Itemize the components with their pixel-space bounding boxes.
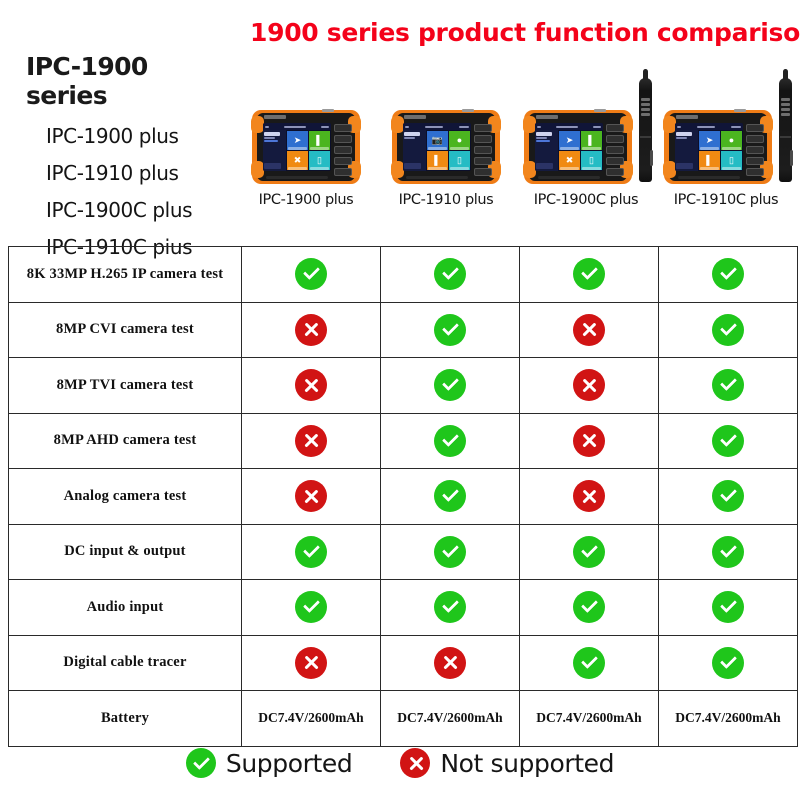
- device-brand-mark: [536, 115, 558, 119]
- product-image-strip: ➤ ▌ ✖ ▯ IPC-1900 plus: [236, 58, 796, 208]
- screen-statusbar: [403, 123, 471, 130]
- feature-value-cell: [381, 302, 520, 358]
- pen-band: [640, 136, 651, 138]
- table-body: 8K 33MP H.265 IP camera test8MP CVI came…: [9, 247, 798, 747]
- pen-tip: [783, 69, 788, 80]
- legend-label: Not supported: [440, 749, 614, 778]
- cross-circle-icon: [400, 748, 430, 778]
- feature-value-cell: [381, 413, 520, 469]
- tester-device-icon: ➤ ▌ ✖ ▯: [252, 110, 360, 184]
- product-label: IPC-1900 plus: [259, 192, 354, 208]
- legend-item-not-supported: Not supported: [400, 748, 614, 778]
- tile-ip-camera-test-icon: ➤: [287, 131, 308, 150]
- feature-value-cell: [242, 413, 381, 469]
- check-circle-icon: [434, 369, 466, 401]
- battery-spec-text: DC7.4V/2600mAh: [258, 710, 363, 725]
- table-row: Analog camera test: [9, 469, 798, 525]
- check-circle-icon: [186, 748, 216, 778]
- feature-value-cell: [242, 247, 381, 303]
- tester-device-icon: ➤ ● ▌ ▯: [664, 110, 772, 184]
- check-circle-icon: [573, 536, 605, 568]
- screen-statusbar: [675, 123, 743, 130]
- cross-circle-icon: [573, 425, 605, 457]
- legend: Supported Not supported: [0, 748, 800, 778]
- feature-value-cell: [659, 302, 798, 358]
- battery-spec-text: DC7.4V/2600mAh: [536, 710, 641, 725]
- pen-band: [780, 136, 791, 138]
- device-bottom-bar: [538, 176, 600, 179]
- feature-label-cell: Battery: [9, 691, 242, 747]
- device-brand-mark: [676, 115, 698, 119]
- device-illustration-wrap: ➤ ● ▌ ▯: [656, 76, 796, 186]
- feature-value-cell: [520, 524, 659, 580]
- screen-side-panel: [535, 130, 558, 171]
- pen-tip: [643, 69, 648, 80]
- feature-label-cell: DC input & output: [9, 524, 242, 580]
- feature-value-cell: [520, 302, 659, 358]
- screen-statusbar: [535, 123, 603, 130]
- device-side-buttons: [334, 124, 352, 176]
- screen-app-tiles: ➤ ▌ ✖ ▯: [558, 130, 603, 171]
- feature-value-cell: [520, 247, 659, 303]
- screen-statusbar: [263, 123, 331, 130]
- feature-value-cell: [659, 247, 798, 303]
- device-top-port: [322, 109, 334, 112]
- cable-tracer-pen-icon: [779, 78, 792, 182]
- screen-side-panel: [263, 130, 286, 171]
- feature-label-cell: 8K 33MP H.265 IP camera test: [9, 247, 242, 303]
- cross-circle-icon: [434, 647, 466, 679]
- screen-body: 📷 ● ▌ ▯: [403, 130, 471, 171]
- cross-circle-icon: [295, 425, 327, 457]
- check-circle-icon: [434, 425, 466, 457]
- table-row: 8K 33MP H.265 IP camera test: [9, 247, 798, 303]
- device-brand-mark: [264, 115, 286, 119]
- legend-item-supported: Supported: [186, 748, 352, 778]
- feature-value-cell: [520, 635, 659, 691]
- device-top-port: [462, 109, 474, 112]
- product-label: IPC-1910C plus: [674, 192, 778, 208]
- device-bottom-bar: [266, 176, 328, 179]
- screen-app-tiles: 📷 ● ▌ ▯: [426, 130, 471, 171]
- feature-value-cell: [659, 413, 798, 469]
- feature-label-cell: 8MP AHD camera test: [9, 413, 242, 469]
- feature-value-cell: [381, 247, 520, 303]
- check-circle-icon: [434, 314, 466, 346]
- device-top-port: [734, 109, 746, 112]
- check-circle-icon: [712, 536, 744, 568]
- tile-document-icon: ▯: [721, 151, 742, 170]
- check-circle-icon: [295, 536, 327, 568]
- legend-label: Supported: [226, 749, 352, 778]
- tile-document-icon: ▯: [581, 151, 602, 170]
- tile-analog-camera-icon: ●: [449, 131, 470, 150]
- feature-value-cell: [659, 580, 798, 636]
- check-circle-icon: [712, 647, 744, 679]
- device-side-buttons: [606, 124, 624, 176]
- screen-side-panel: [675, 130, 698, 171]
- table-row: BatteryDC7.4V/2600mAhDC7.4V/2600mAhDC7.4…: [9, 691, 798, 747]
- product-column: ➤ ● ▌ ▯ IPC-1910C plu: [656, 58, 796, 208]
- cross-circle-icon: [573, 314, 605, 346]
- cross-circle-icon: [295, 480, 327, 512]
- device-illustration-wrap: ➤ ▌ ✖ ▯: [236, 76, 376, 186]
- check-circle-icon: [712, 314, 744, 346]
- table-row: 8MP AHD camera test: [9, 413, 798, 469]
- feature-value-cell: [520, 580, 659, 636]
- table-row: DC input & output: [9, 524, 798, 580]
- screen-body: ➤ ▌ ✖ ▯: [263, 130, 331, 171]
- feature-label-cell: Audio input: [9, 580, 242, 636]
- feature-value-cell: [659, 358, 798, 414]
- product-column: 📷 ● ▌ ▯ IPC-1910 plus: [376, 58, 516, 208]
- device-illustration-wrap: 📷 ● ▌ ▯: [376, 76, 516, 186]
- feature-value-cell: [659, 469, 798, 525]
- feature-value-cell: DC7.4V/2600mAh: [381, 691, 520, 747]
- feature-value-cell: [520, 358, 659, 414]
- series-summary: IPC-1900 series IPC-1900 plus IPC-1910 p…: [12, 52, 232, 272]
- feature-label-cell: 8MP CVI camera test: [9, 302, 242, 358]
- screen-app-tiles: ➤ ▌ ✖ ▯: [286, 130, 331, 171]
- battery-spec-text: DC7.4V/2600mAh: [675, 710, 780, 725]
- table-row: 8MP TVI camera test: [9, 358, 798, 414]
- feature-value-cell: DC7.4V/2600mAh: [520, 691, 659, 747]
- series-item: IPC-1900C plus: [46, 198, 232, 222]
- feature-label-cell: Digital cable tracer: [9, 635, 242, 691]
- device-side-buttons: [474, 124, 492, 176]
- tester-device-icon: ➤ ▌ ✖ ▯: [524, 110, 632, 184]
- feature-value-cell: [659, 635, 798, 691]
- cross-circle-icon: [295, 314, 327, 346]
- feature-value-cell: [242, 524, 381, 580]
- table-row: Audio input: [9, 580, 798, 636]
- page-title: 1900 series product function comparison …: [250, 18, 798, 47]
- feature-value-cell: [520, 413, 659, 469]
- check-circle-icon: [712, 425, 744, 457]
- tile-analog-camera-icon: ●: [721, 131, 742, 150]
- product-label: IPC-1900C plus: [534, 192, 638, 208]
- feature-value-cell: [520, 469, 659, 525]
- device-side-buttons: [746, 124, 764, 176]
- check-circle-icon: [573, 591, 605, 623]
- check-circle-icon: [434, 536, 466, 568]
- device-bottom-bar: [406, 176, 468, 179]
- feature-value-cell: [381, 358, 520, 414]
- feature-value-cell: [242, 469, 381, 525]
- device-screen: ➤ ● ▌ ▯: [675, 123, 743, 171]
- feature-value-cell: [242, 635, 381, 691]
- tile-ip-camera-test-icon: ➤: [559, 131, 580, 150]
- check-circle-icon: [573, 647, 605, 679]
- cross-circle-icon: [573, 369, 605, 401]
- device-brand-mark: [404, 115, 426, 119]
- device-screen: ➤ ▌ ✖ ▯: [263, 123, 331, 171]
- device-bottom-bar: [678, 176, 740, 179]
- product-label: IPC-1910 plus: [399, 192, 494, 208]
- pen-clip: [650, 150, 653, 166]
- cable-tracer-pen-icon: [639, 78, 652, 182]
- cross-circle-icon: [295, 369, 327, 401]
- check-circle-icon: [434, 258, 466, 290]
- tile-ip-camera-test-icon: ➤: [699, 131, 720, 150]
- tile-network-tool-icon: ▌: [309, 131, 330, 150]
- feature-value-cell: [242, 358, 381, 414]
- pen-keypad: [781, 98, 790, 116]
- series-heading: IPC-1900 series: [26, 52, 232, 110]
- tile-settings-tools-icon: ✖: [287, 151, 308, 170]
- tile-ip-camera-test-icon: 📷: [427, 131, 448, 150]
- device-top-port: [594, 109, 606, 112]
- feature-label-cell: 8MP TVI camera test: [9, 358, 242, 414]
- feature-value-cell: [242, 580, 381, 636]
- pen-clip: [790, 150, 793, 166]
- screen-body: ➤ ▌ ✖ ▯: [535, 130, 603, 171]
- check-circle-icon: [712, 369, 744, 401]
- device-screen: ➤ ▌ ✖ ▯: [535, 123, 603, 171]
- tile-document-icon: ▯: [309, 151, 330, 170]
- series-item: IPC-1900 plus: [46, 124, 232, 148]
- check-circle-icon: [573, 258, 605, 290]
- series-item: IPC-1910 plus: [46, 161, 232, 185]
- feature-label-cell: Analog camera test: [9, 469, 242, 525]
- tile-network-tool-icon: ▌: [427, 151, 448, 170]
- tile-settings-tools-icon: ✖: [559, 151, 580, 170]
- screen-body: ➤ ● ▌ ▯: [675, 130, 743, 171]
- feature-value-cell: [242, 302, 381, 358]
- tile-network-tool-icon: ▌: [581, 131, 602, 150]
- check-circle-icon: [434, 480, 466, 512]
- product-column: ➤ ▌ ✖ ▯ IPC-1900 plus: [236, 58, 376, 208]
- screen-app-tiles: ➤ ● ▌ ▯: [698, 130, 743, 171]
- device-screen: 📷 ● ▌ ▯: [403, 123, 471, 171]
- feature-value-cell: DC7.4V/2600mAh: [242, 691, 381, 747]
- check-circle-icon: [434, 591, 466, 623]
- check-circle-icon: [295, 591, 327, 623]
- table-row: Digital cable tracer: [9, 635, 798, 691]
- check-circle-icon: [712, 591, 744, 623]
- feature-value-cell: [381, 524, 520, 580]
- product-column: ➤ ▌ ✖ ▯ IPC-1900C plu: [516, 58, 656, 208]
- table-row: 8MP CVI camera test: [9, 302, 798, 358]
- check-circle-icon: [712, 480, 744, 512]
- tester-device-icon: 📷 ● ▌ ▯: [392, 110, 500, 184]
- feature-comparison-table: 8K 33MP H.265 IP camera test8MP CVI came…: [8, 246, 798, 747]
- check-circle-icon: [295, 258, 327, 290]
- feature-value-cell: [659, 524, 798, 580]
- tile-network-tool-icon: ▌: [699, 151, 720, 170]
- feature-value-cell: DC7.4V/2600mAh: [659, 691, 798, 747]
- feature-value-cell: [381, 635, 520, 691]
- feature-value-cell: [381, 580, 520, 636]
- battery-spec-text: DC7.4V/2600mAh: [397, 710, 502, 725]
- tile-document-icon: ▯: [449, 151, 470, 170]
- check-circle-icon: [712, 258, 744, 290]
- cross-circle-icon: [573, 480, 605, 512]
- screen-side-panel: [403, 130, 426, 171]
- device-illustration-wrap: ➤ ▌ ✖ ▯: [516, 76, 656, 186]
- feature-value-cell: [381, 469, 520, 525]
- pen-keypad: [641, 98, 650, 116]
- cross-circle-icon: [295, 647, 327, 679]
